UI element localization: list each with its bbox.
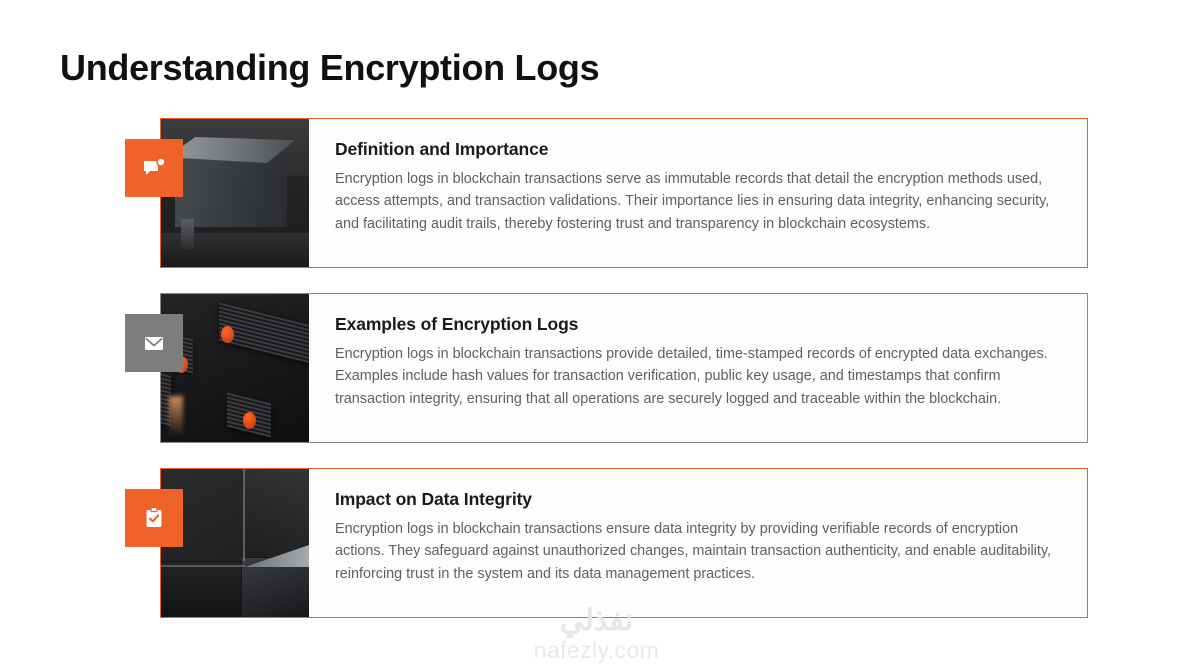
card-thumbnail	[161, 294, 309, 442]
card-thumbnail	[161, 469, 309, 617]
card-title: Definition and Importance	[335, 139, 1061, 160]
page-title: Understanding Encryption Logs	[60, 46, 599, 89]
envelope-icon	[125, 314, 183, 372]
slide-root: Understanding Encryption Logs Definition…	[0, 0, 1193, 671]
clipboard-check-icon	[125, 489, 183, 547]
card-title: Impact on Data Integrity	[335, 489, 1061, 510]
card-description: Encryption logs in blockchain transactio…	[335, 343, 1061, 410]
card-title: Examples of Encryption Logs	[335, 314, 1061, 335]
card-description: Encryption logs in blockchain transactio…	[335, 168, 1061, 235]
card-item[interactable]: Definition and Importance Encryption log…	[160, 118, 1088, 268]
card-item[interactable]: Examples of Encryption Logs Encryption l…	[160, 293, 1088, 443]
card-item[interactable]: Impact on Data Integrity Encryption logs…	[160, 468, 1088, 618]
card-body: Definition and Importance Encryption log…	[309, 119, 1087, 267]
card-list: Definition and Importance Encryption log…	[160, 118, 1088, 643]
card-body: Examples of Encryption Logs Encryption l…	[309, 294, 1087, 442]
chat-bubble-icon	[125, 139, 183, 197]
card-thumbnail	[161, 119, 309, 267]
card-body: Impact on Data Integrity Encryption logs…	[309, 469, 1087, 617]
card-description: Encryption logs in blockchain transactio…	[335, 518, 1061, 585]
